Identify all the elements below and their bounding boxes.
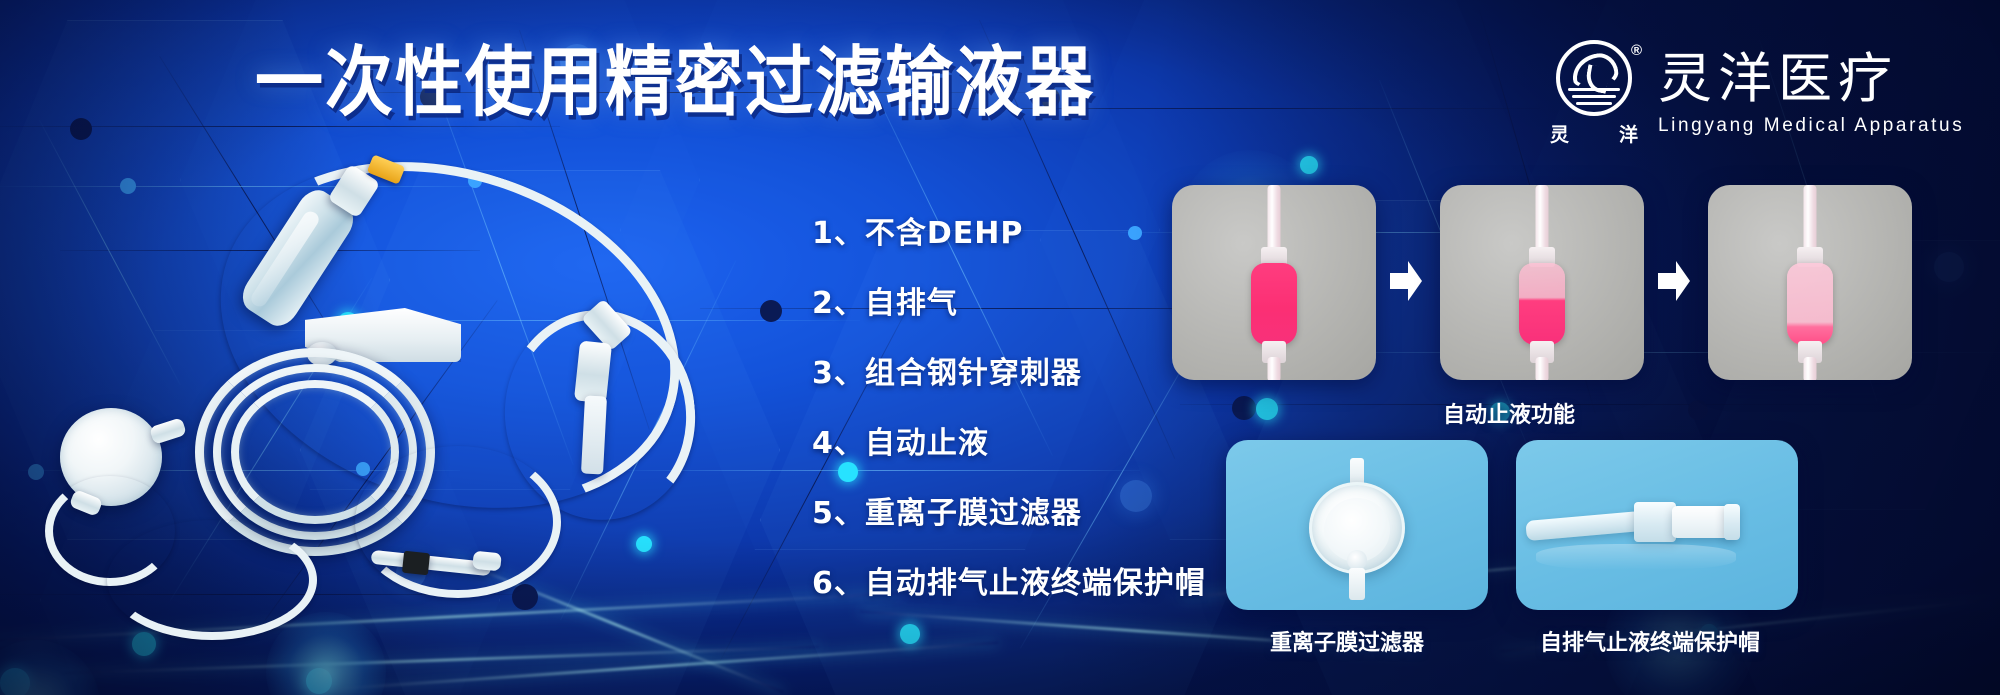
emblem-wave-icon-3 xyxy=(1576,102,1612,105)
photo-auto-stop-step-2 xyxy=(1440,185,1644,380)
brand-name-en: Lingyang Medical Apparatus xyxy=(1658,115,1964,137)
brand-name-block: 灵洋医疗 Lingyang Medical Apparatus xyxy=(1658,50,1964,137)
caption-terminal-protective-cap: 自排气止液终端保护帽 xyxy=(1540,625,1760,657)
iv-tube-lower xyxy=(1268,357,1281,380)
product-banner: 一次性使用精密过滤输液器 ® 灵 洋 灵洋医疗 Lingyang Medical… xyxy=(0,0,2000,695)
emblem-subtext: 灵 洋 xyxy=(1548,120,1640,147)
emblem-wave-icon-2 xyxy=(1572,95,1616,98)
photo-auto-stop-step-1 xyxy=(1172,185,1376,380)
filter-center-nub xyxy=(1347,550,1367,570)
auto-stop-chamber xyxy=(1519,263,1565,345)
cap-luer-hub xyxy=(1634,502,1676,542)
emblem-char-right: 洋 xyxy=(1619,120,1638,147)
photo-terminal-protective-cap xyxy=(1516,440,1798,610)
sequence-arrow-1 xyxy=(1388,258,1424,304)
iv-tube-lower xyxy=(1804,357,1817,380)
feature-item-2: 2、自排气 xyxy=(812,278,1206,322)
iv-tube xyxy=(1536,185,1549,255)
filter-outlet-port xyxy=(1349,568,1365,600)
emblem-char-left: 灵 xyxy=(1550,120,1569,147)
caption-auto-stop-function: 自动止液功能 xyxy=(1443,397,1575,429)
brand-logo: ® 灵 洋 灵洋医疗 Lingyang Medical Apparatus xyxy=(1548,40,1964,147)
feature-item-3: 3、组合钢针穿刺器 xyxy=(812,348,1206,392)
needle-tip xyxy=(472,551,502,572)
feature-item-5: 5、重离子膜过滤器 xyxy=(812,488,1206,532)
feature-item-6: 6、自动排气止液终端保护帽 xyxy=(812,558,1206,602)
emblem-wave-icon-1 xyxy=(1568,88,1620,91)
feature-list: 1、不含DEHP 2、自排气 3、组合钢针穿刺器 4、自动止液 5、重离子膜过滤… xyxy=(812,208,1206,602)
needle-hub xyxy=(574,340,612,403)
filter-inlet-port xyxy=(149,417,187,445)
product-photo-infusion-set xyxy=(55,160,815,580)
iv-tube xyxy=(1268,185,1281,255)
terminal-clip xyxy=(402,551,430,576)
steel-needle-shield xyxy=(581,395,607,474)
cap-reflection xyxy=(1536,544,1736,570)
iv-tube xyxy=(1804,185,1817,255)
brand-name-cn: 灵洋医疗 xyxy=(1658,52,1964,106)
feature-item-4: 4、自动止液 xyxy=(812,418,1206,462)
auto-stop-chamber xyxy=(1251,263,1297,345)
photo-auto-stop-step-3 xyxy=(1708,185,1912,380)
tube-left-lower xyxy=(107,520,317,640)
registered-trademark-icon: ® xyxy=(1631,42,1642,59)
caption-ion-membrane-filter: 重离子膜过滤器 xyxy=(1270,625,1424,657)
company-emblem: ® 灵 洋 xyxy=(1548,40,1640,147)
iv-tube-lower xyxy=(1536,357,1549,380)
cap-white-body xyxy=(1672,506,1730,538)
photo-ion-membrane-filter xyxy=(1226,440,1488,610)
sequence-arrow-2 xyxy=(1656,258,1692,304)
emblem-circle-icon xyxy=(1556,40,1632,116)
cap-end-ring xyxy=(1724,504,1740,540)
tube-bottom-loop xyxy=(355,446,561,598)
page-title: 一次性使用精密过滤输液器 xyxy=(255,46,1095,122)
cap-tubing xyxy=(1525,511,1642,541)
feature-item-1: 1、不含DEHP xyxy=(812,208,1206,252)
auto-stop-chamber xyxy=(1787,263,1833,345)
